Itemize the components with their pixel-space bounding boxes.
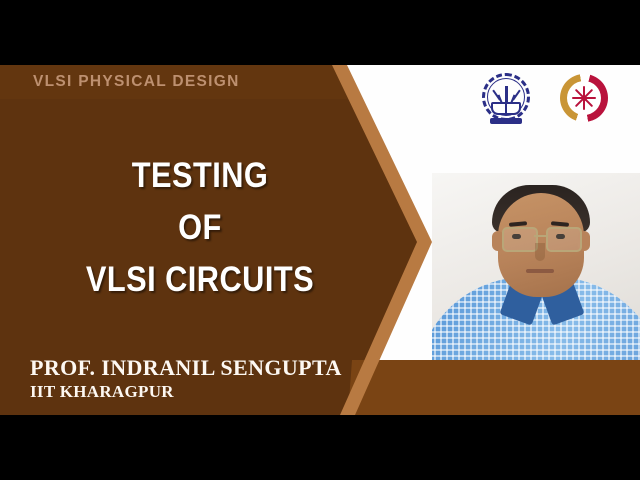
portrait-mouth xyxy=(526,269,554,273)
logo-group xyxy=(478,65,628,135)
iitkgp-banner xyxy=(490,118,522,124)
page-title: TESTING OF VLSI CIRCUITS xyxy=(0,150,400,306)
title-line-2: OF xyxy=(24,202,376,254)
iit-kharagpur-logo xyxy=(478,71,534,129)
slide-stage: VLSI PHYSICAL DESIGN TESTING OF VLSI CIR… xyxy=(0,65,640,415)
letterbox-top xyxy=(0,0,640,65)
title-line-1: TESTING xyxy=(24,150,376,202)
nptel-logo xyxy=(556,71,612,129)
presenter-affiliation: IIT KHARAGPUR xyxy=(30,381,342,403)
title-line-3: VLSI CIRCUITS xyxy=(24,254,376,306)
portrait-glasses-right xyxy=(546,227,582,252)
presenter-block: PROF. INDRANIL SENGUPTA IIT KHARAGPUR xyxy=(30,355,342,403)
course-kicker: VLSI PHYSICAL DESIGN xyxy=(33,73,240,91)
portrait-glasses-left xyxy=(502,227,538,252)
presenter-name: PROF. INDRANIL SENGUPTA xyxy=(30,355,342,381)
portrait-glasses-bridge xyxy=(534,235,546,237)
letterbox-bottom xyxy=(0,415,640,480)
title-slide: VLSI PHYSICAL DESIGN TESTING OF VLSI CIR… xyxy=(0,0,640,480)
presenter-portrait xyxy=(432,173,640,363)
nptel-core xyxy=(582,96,587,101)
portrait-nose xyxy=(535,243,545,261)
iitkgp-book-spine xyxy=(505,102,507,115)
